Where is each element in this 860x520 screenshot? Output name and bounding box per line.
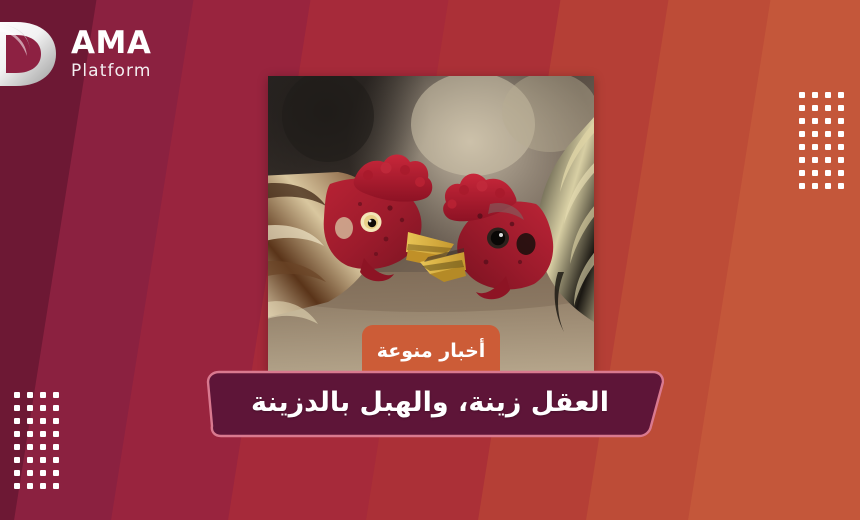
decorative-dot (825, 170, 831, 176)
decorative-dot (40, 431, 46, 437)
decorative-dot (825, 157, 831, 163)
decorative-dot (27, 431, 33, 437)
decorative-dot (812, 105, 818, 111)
decorative-dot (27, 392, 33, 398)
decorative-dot (27, 470, 33, 476)
decorative-dot (40, 405, 46, 411)
decorative-dot (812, 157, 818, 163)
news-poster-card: AMA Platform (0, 0, 860, 520)
decorative-dot (27, 418, 33, 424)
headline-banner: العقل زينة، والهبل بالدزينة (196, 370, 664, 438)
decorative-dot (838, 118, 844, 124)
decorative-dot (825, 183, 831, 189)
decorative-dot-grid-top-right (799, 92, 844, 189)
decorative-dot (14, 457, 20, 463)
decorative-dot (40, 392, 46, 398)
decorative-dot (799, 105, 805, 111)
decorative-dot (812, 118, 818, 124)
decorative-dot (799, 131, 805, 137)
category-badge-label: أخبار منوعة (377, 340, 486, 362)
decorative-dot (825, 144, 831, 150)
dama-d-monogram-icon (0, 18, 62, 90)
decorative-dot (14, 470, 20, 476)
decorative-dot (53, 444, 59, 450)
decorative-dot (27, 405, 33, 411)
decorative-dot (825, 118, 831, 124)
decorative-dot (825, 92, 831, 98)
decorative-dot (812, 170, 818, 176)
headline-text: العقل زينة، والهبل بالدزينة (196, 370, 664, 438)
decorative-dot-grid-bottom-left (14, 392, 59, 489)
decorative-dot (14, 483, 20, 489)
decorative-dot (825, 105, 831, 111)
decorative-dot (812, 131, 818, 137)
decorative-dot (838, 131, 844, 137)
decorative-dot (27, 483, 33, 489)
decorative-dot (799, 183, 805, 189)
decorative-dot (838, 144, 844, 150)
decorative-dot (53, 470, 59, 476)
brand-name: AMA (71, 28, 152, 59)
decorative-dot (838, 105, 844, 111)
decorative-dot (812, 183, 818, 189)
decorative-dot (825, 131, 831, 137)
decorative-dot (53, 483, 59, 489)
decorative-dot (40, 444, 46, 450)
decorative-dot (53, 392, 59, 398)
decorative-dot (53, 418, 59, 424)
brand-tagline: Platform (71, 63, 152, 80)
decorative-dot (799, 170, 805, 176)
decorative-dot (812, 144, 818, 150)
decorative-dot (838, 157, 844, 163)
decorative-dot (14, 405, 20, 411)
decorative-dot (812, 92, 818, 98)
decorative-dot (53, 457, 59, 463)
decorative-dot (27, 457, 33, 463)
decorative-dot (40, 457, 46, 463)
decorative-dot (14, 431, 20, 437)
decorative-dot (53, 431, 59, 437)
decorative-dot (838, 170, 844, 176)
decorative-dot (799, 92, 805, 98)
decorative-dot (40, 470, 46, 476)
decorative-dot (838, 92, 844, 98)
decorative-dot (53, 405, 59, 411)
decorative-dot (40, 418, 46, 424)
brand-logo[interactable]: AMA Platform (0, 18, 152, 90)
decorative-dot (40, 483, 46, 489)
decorative-dot (27, 444, 33, 450)
decorative-dot (799, 118, 805, 124)
decorative-dot (14, 444, 20, 450)
decorative-dot (799, 144, 805, 150)
decorative-dot (14, 418, 20, 424)
decorative-dot (838, 183, 844, 189)
decorative-dot (14, 392, 20, 398)
decorative-dot (799, 157, 805, 163)
